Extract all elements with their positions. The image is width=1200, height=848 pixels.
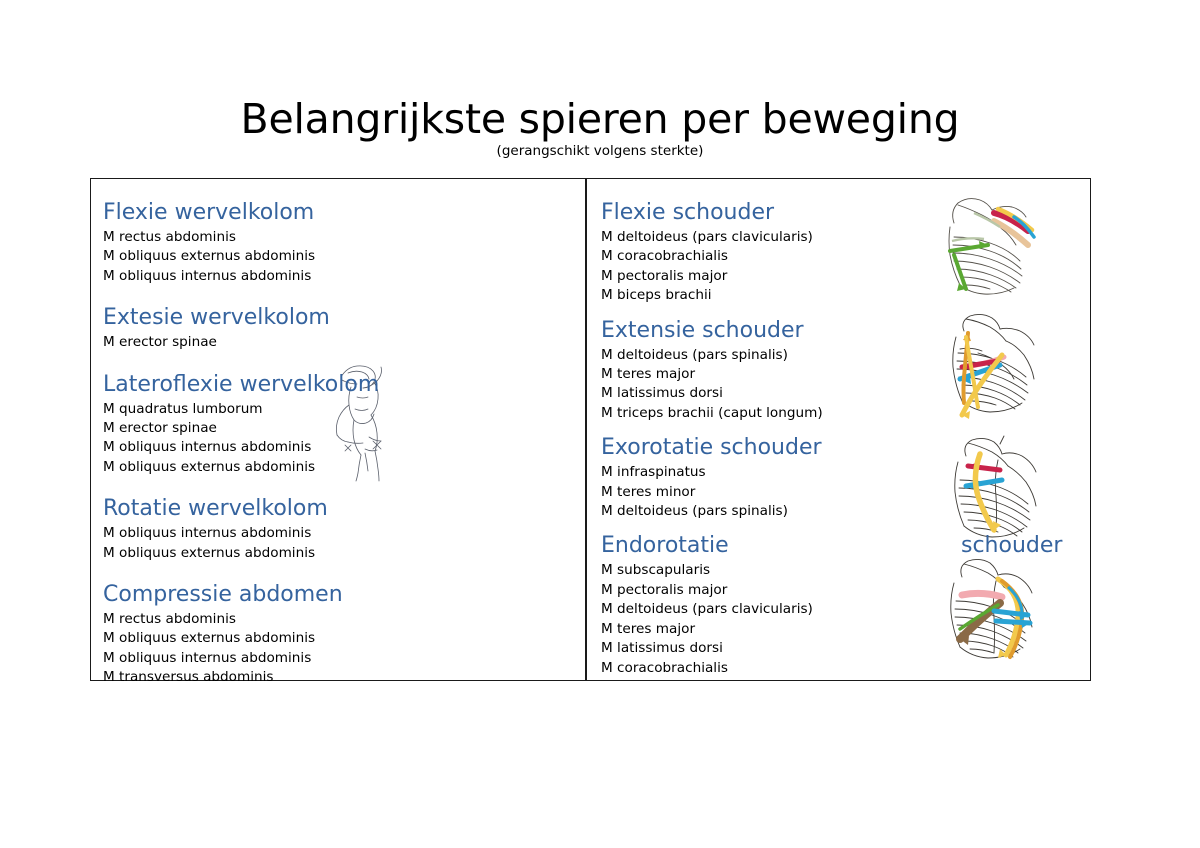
- section-heading: Flexie schouder: [601, 199, 1080, 226]
- muscle-item: M deltoideus (pars spinalis): [601, 346, 1080, 365]
- section-heading: Exorotatie schouder: [601, 434, 1080, 461]
- page-title: Belangrijkste spieren per beweging: [0, 96, 1200, 142]
- muscle-item: M coracobrachialis: [601, 247, 1080, 266]
- section-flexie-wervelkolom: Flexie wervelkolom M rectus abdominis M …: [103, 199, 575, 286]
- muscle-item: M rectus abdominis: [103, 610, 575, 629]
- muscle-item: M latissimus dorsi: [601, 639, 1080, 658]
- section-flexie-schouder: Flexie schouder M deltoideus (pars clavi…: [601, 199, 1080, 306]
- muscle-item: M deltoideus (pars clavicularis): [601, 600, 1080, 619]
- section-heading: Extensie schouder: [601, 317, 1080, 344]
- muscle-list: M erector spinae: [103, 333, 575, 352]
- muscle-item: M obliquus externus abdominis: [103, 247, 575, 266]
- section-heading: Compressie abdomen: [103, 581, 575, 608]
- muscle-list: M deltoideus (pars spinalis) M teres maj…: [601, 346, 1080, 424]
- muscle-item: M obliquus internus abdominis: [103, 438, 575, 457]
- muscle-list: M infraspinatus M teres minor M deltoide…: [601, 463, 1080, 521]
- section-exorotatie-schouder: Exorotatie schouder M infraspinatus M te…: [601, 434, 1080, 521]
- muscle-item: M obliquus externus abdominis: [103, 629, 575, 648]
- muscle-list: M deltoideus (pars clavicularis) M corac…: [601, 228, 1080, 306]
- muscle-item: M obliquus internus abdominis: [103, 649, 575, 668]
- muscle-item: M quadratus lumborum: [103, 400, 575, 419]
- muscle-item: M pectoralis major: [601, 267, 1080, 286]
- muscle-item: M teres major: [601, 620, 1080, 639]
- muscle-item: M biceps brachii: [601, 286, 1080, 305]
- left-column: Flexie wervelkolom M rectus abdominis M …: [91, 179, 585, 680]
- muscle-item: M infraspinatus: [601, 463, 1080, 482]
- muscle-list: M quadratus lumborum M erector spinae M …: [103, 400, 575, 478]
- page-subtitle: (gerangschikt volgens sterkte): [0, 143, 1200, 160]
- section-lateroflexie-wervelkolom: Lateroflexie wervelkolom M quadratus lum…: [103, 371, 575, 478]
- muscle-item: M erector spinae: [103, 419, 575, 438]
- muscle-item: M obliquus externus abdominis: [103, 458, 575, 477]
- muscle-item: M deltoideus (pars spinalis): [601, 502, 1080, 521]
- section-heading: Endorotatie: [601, 533, 729, 558]
- content-frame: Flexie wervelkolom M rectus abdominis M …: [90, 178, 1091, 681]
- section-heading-wrapper: Endorotatie schouder: [601, 532, 1080, 559]
- muscle-item: M erector spinae: [103, 333, 575, 352]
- muscle-item: M triceps brachii (caput longum): [601, 404, 1080, 423]
- muscle-item: M obliquus internus abdominis: [103, 267, 575, 286]
- section-endorotatie-schouder: Endorotatie schouder M subscapularis M p…: [601, 532, 1080, 677]
- muscle-item: M transversus abdominis: [103, 668, 575, 687]
- section-extensie-schouder: Extensie schouder M deltoideus (pars spi…: [601, 317, 1080, 424]
- muscle-list: M subscapularis M pectoralis major M del…: [601, 561, 1080, 677]
- muscle-list: M rectus abdominis M obliquus externus a…: [103, 228, 575, 286]
- muscle-list: M rectus abdominis M obliquus externus a…: [103, 610, 575, 688]
- section-rotatie-wervelkolom: Rotatie wervelkolom M obliquus internus …: [103, 495, 575, 563]
- muscle-item: M latissimus dorsi: [601, 384, 1080, 403]
- section-heading: Rotatie wervelkolom: [103, 495, 575, 522]
- muscle-item: M pectoralis major: [601, 581, 1080, 600]
- section-compressie-abdomen: Compressie abdomen M rectus abdominis M …: [103, 581, 575, 688]
- muscle-item: M coracobrachialis: [601, 659, 1080, 678]
- muscle-item: M obliquus internus abdominis: [103, 524, 575, 543]
- muscle-item: M deltoideus (pars clavicularis): [601, 228, 1080, 247]
- title-block: Belangrijkste spieren per beweging (gera…: [0, 96, 1200, 160]
- muscle-item: M rectus abdominis: [103, 228, 575, 247]
- section-extesie-wervelkolom: Extesie wervelkolom M erector spinae: [103, 304, 575, 352]
- muscle-item: M subscapularis: [601, 561, 1080, 580]
- muscle-list: M obliquus internus abdominis M obliquus…: [103, 524, 575, 563]
- section-heading: Lateroflexie wervelkolom: [103, 371, 575, 398]
- section-heading: Extesie wervelkolom: [103, 304, 575, 331]
- muscle-item: M teres major: [601, 365, 1080, 384]
- section-heading-tail: schouder: [961, 532, 1062, 559]
- section-heading: Flexie wervelkolom: [103, 199, 575, 226]
- muscle-item: M obliquus externus abdominis: [103, 544, 575, 563]
- right-column: Flexie schouder M deltoideus (pars clavi…: [587, 179, 1090, 680]
- muscle-item: M teres minor: [601, 483, 1080, 502]
